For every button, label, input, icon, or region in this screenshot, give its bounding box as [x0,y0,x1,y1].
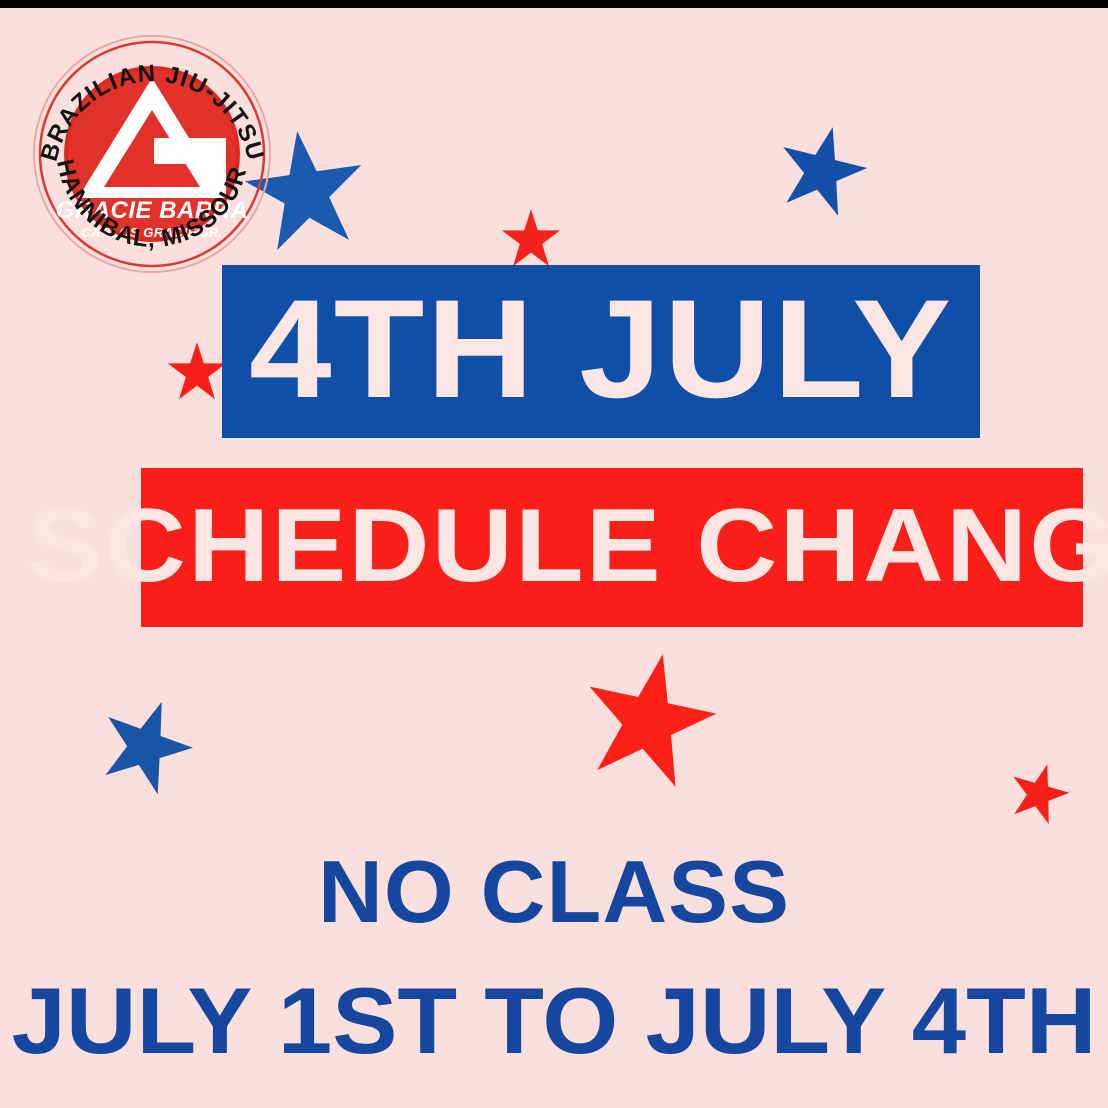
star-red-large-center [567,637,731,801]
bottom-message-line-2: JULY 1ST TO JULY 4TH [0,974,1108,1068]
bottom-message: NO CLASS JULY 1ST TO JULY 4TH [0,848,1108,1068]
bottom-message-line-1: NO CLASS [0,848,1108,936]
top-black-bar [0,0,1108,8]
poster-canvas: GRACIE BARRA CARLOS GRACIE JR. BRAZILIAN… [0,0,1108,1108]
star-red-small-upper-center [500,208,562,270]
star-blue-small-top-right [766,114,878,226]
headline-banner-4th-july: 4TH JULY [222,265,980,438]
star-red-small-left [166,341,228,403]
gracie-barra-logo: GRACIE BARRA CARLOS GRACIE JR. BRAZILIAN… [30,26,275,281]
headline-banner-schedule-change-text: SCHEDULE CHANGE [28,494,1108,602]
star-red-small-bottom-right [1001,755,1078,832]
star-blue-mid-left [84,683,207,806]
headline-banner-schedule-change: SCHEDULE CHANGE [141,468,1083,627]
headline-banner-4th-july-text: 4TH JULY [249,279,953,425]
